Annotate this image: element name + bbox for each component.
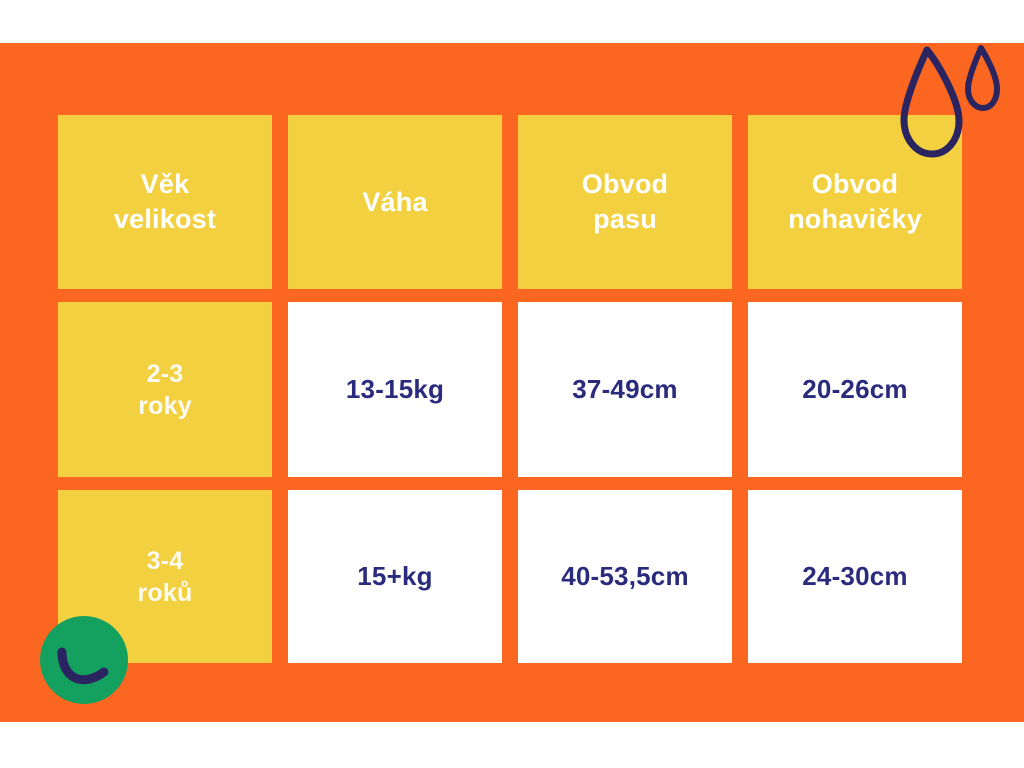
row-1-waist-value: 37-49cm xyxy=(518,302,732,477)
column-header-waist: Obvod pasu xyxy=(518,115,732,289)
column-header-waist-line2: pasu xyxy=(582,202,669,237)
column-header-age: Věk velikost xyxy=(58,115,272,289)
row-2-leg-value: 24-30cm xyxy=(748,490,962,663)
column-header-weight-line1: Váha xyxy=(362,185,427,220)
size-chart-page: Věk velikost Váha Obvod pasu Obvod nohav… xyxy=(0,0,1024,768)
row-1-age-line1: 2-3 xyxy=(138,358,192,390)
row-1-weight-value: 13-15kg xyxy=(288,302,502,477)
smiley-face-icon xyxy=(38,614,130,706)
column-header-leg-line1: Obvod xyxy=(788,167,922,202)
row-2-age-line2: roků xyxy=(138,577,193,609)
column-header-waist-line1: Obvod xyxy=(582,167,669,202)
row-1-leg-value: 20-26cm xyxy=(748,302,962,477)
size-table: Věk velikost Váha Obvod pasu Obvod nohav… xyxy=(58,115,964,663)
column-header-leg-line2: nohavičky xyxy=(788,202,922,237)
row-2-age-line1: 3-4 xyxy=(138,545,193,577)
row-1-age-line2: roky xyxy=(138,390,192,422)
column-header-age-line2: velikost xyxy=(114,202,216,237)
column-header-weight: Váha xyxy=(288,115,502,289)
column-header-leg: Obvod nohavičky xyxy=(748,115,962,289)
row-2-weight-value: 15+kg xyxy=(288,490,502,663)
row-2-waist-value: 40-53,5cm xyxy=(518,490,732,663)
table-row: 2-3 roky xyxy=(58,302,272,477)
column-header-age-line1: Věk xyxy=(114,167,216,202)
